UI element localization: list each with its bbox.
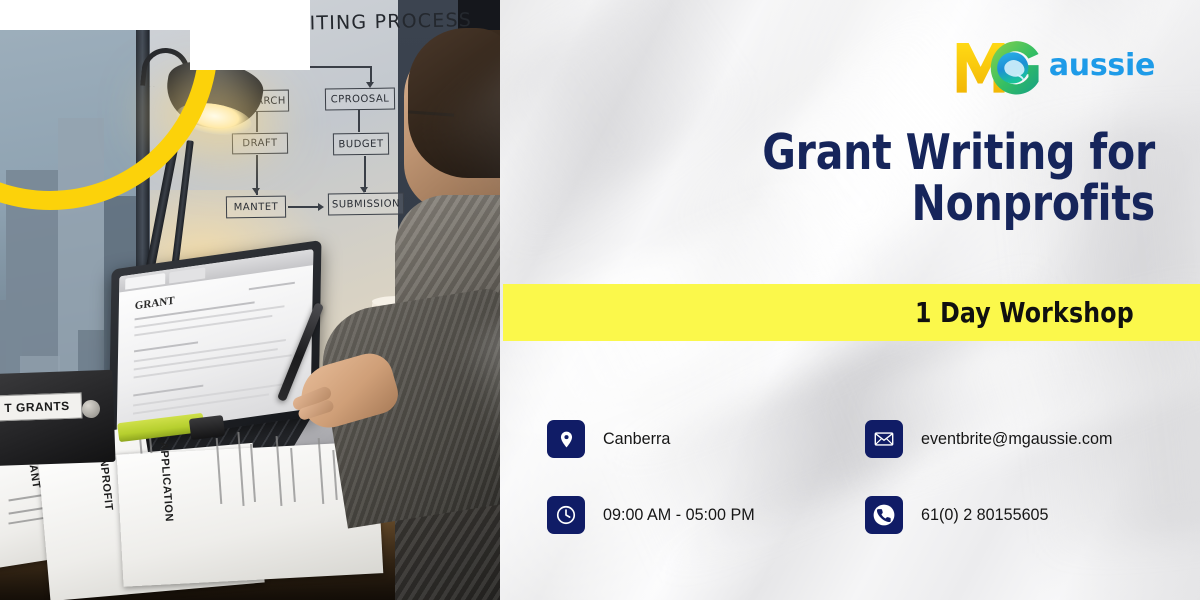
wb-connector: [358, 110, 360, 132]
event-details: Canberra eventbrite@mgaussie.com 09:00 A…: [547, 420, 1167, 534]
detail-phone-label: 61(0) 2 80155605: [921, 505, 1049, 525]
person-hair: [408, 28, 500, 178]
brand-logo[interactable]: aussie: [953, 35, 1155, 97]
detail-email[interactable]: eventbrite@mgaussie.com: [865, 420, 1165, 458]
doc-line: [134, 341, 198, 352]
wb-arrow: [360, 187, 368, 193]
binder-label: T GRANTS: [0, 392, 82, 421]
event-title-line2: Nonprofits: [578, 179, 1155, 230]
event-photo: GRANT WRITING PROCESS RESEARCH CPROOSAL …: [0, 0, 500, 600]
detail-time-label: 09:00 AM - 05:00 PM: [603, 505, 755, 525]
wb-connector: [288, 206, 318, 208]
phone-icon: [865, 496, 903, 534]
detail-location[interactable]: Canberra: [547, 420, 865, 458]
envelope-icon: [865, 420, 903, 458]
wb-connector: [256, 112, 258, 132]
wb-node-mantet: MANTET: [226, 196, 286, 219]
mg-globe-icon: [953, 35, 1045, 97]
detail-email-label: eventbrite@mgaussie.com: [921, 429, 1112, 449]
event-subtitle: 1 Day Workshop: [915, 296, 1134, 329]
event-title-line1: Grant Writing for: [578, 128, 1155, 179]
location-pin-icon: [547, 420, 585, 458]
arc-mask: [190, 0, 310, 70]
wb-node-budget: BUDGET: [333, 133, 389, 156]
laptop-screen-lid: GRANT: [108, 240, 321, 445]
highlighter-cap: [189, 415, 225, 440]
wb-node-draft: DRAFT: [232, 133, 288, 155]
brand-wordmark: aussie: [1049, 51, 1155, 81]
wb-node-submission: SUBMISSION: [328, 192, 404, 215]
subtitle-banner: 1 Day Workshop: [503, 284, 1200, 341]
clock-icon: [547, 496, 585, 534]
doc-line: [249, 282, 295, 290]
event-title: Grant Writing for Nonprofits: [578, 128, 1155, 230]
laptop-doc-title: GRANT: [135, 295, 175, 313]
wb-arrow: [318, 203, 324, 211]
wb-node-proposal: CPROOSAL: [325, 88, 395, 111]
detail-location-label: Canberra: [603, 429, 670, 449]
detail-phone[interactable]: 61(0) 2 80155605: [865, 496, 1165, 534]
event-banner: GRANT WRITING PROCESS RESEARCH CPROOSAL …: [0, 0, 1200, 600]
doc-line: [133, 385, 203, 397]
laptop-screen: GRANT: [117, 249, 314, 436]
detail-time[interactable]: 09:00 AM - 05:00 PM: [547, 496, 865, 534]
wb-arrow: [252, 188, 260, 194]
